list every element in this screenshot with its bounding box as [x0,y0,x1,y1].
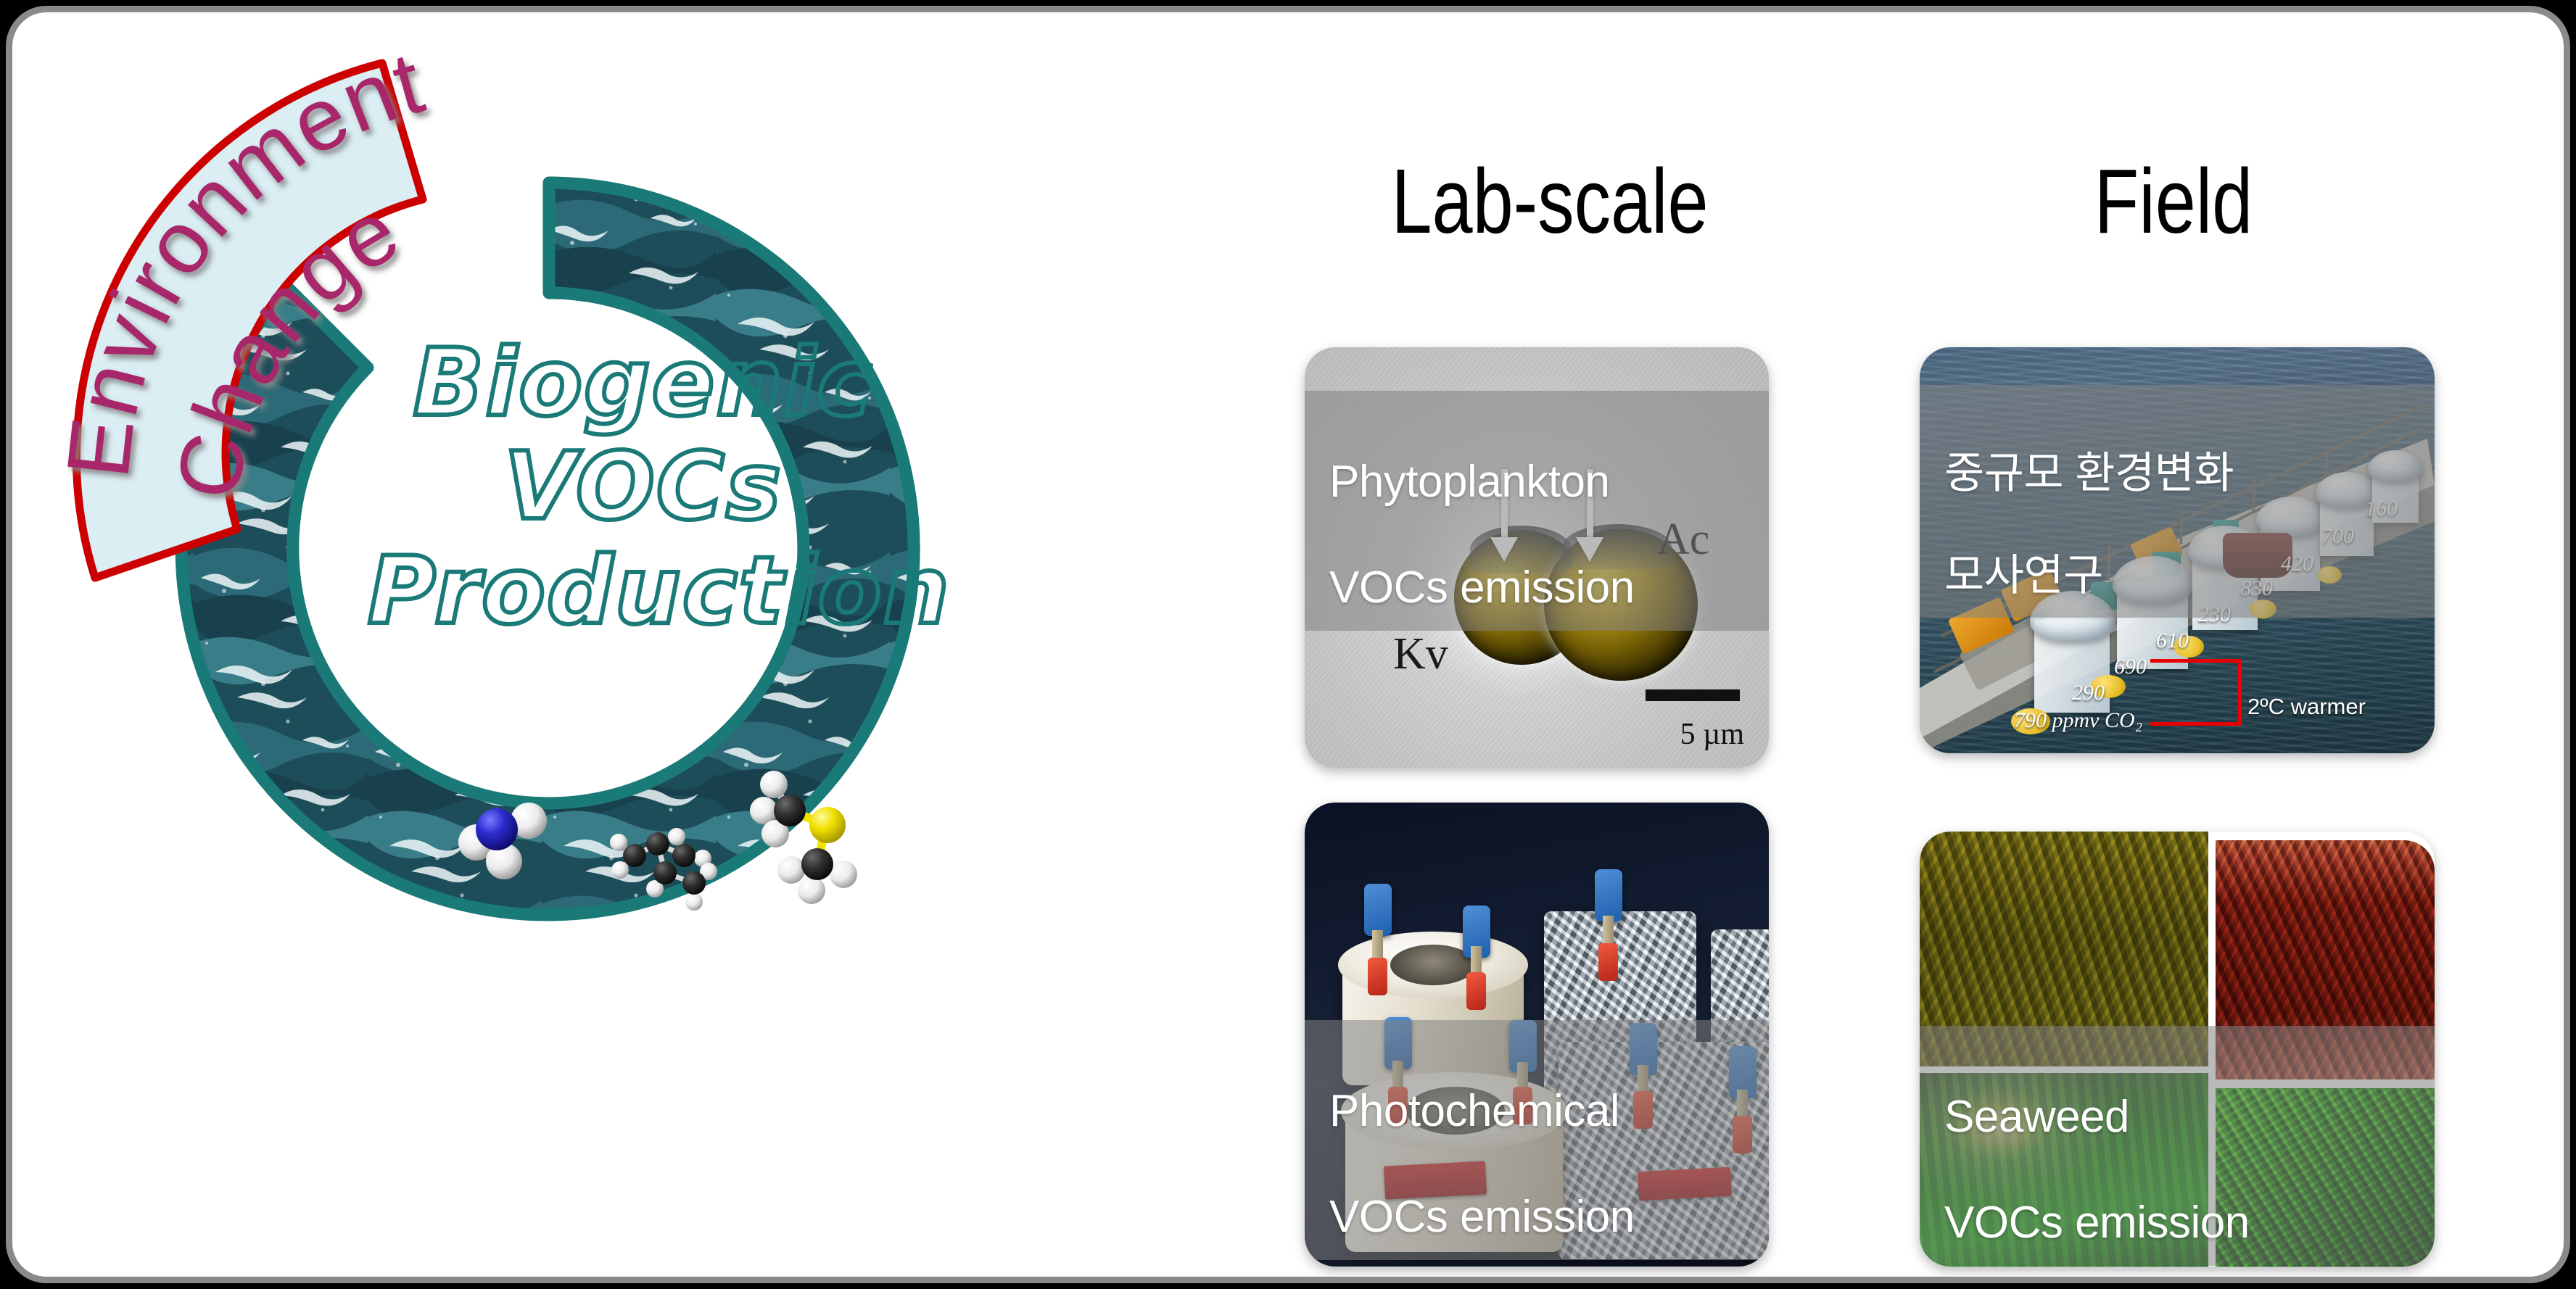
caption-phytoplankton: Phytoplankton VOCs emission [1305,391,1769,631]
warming-bracket [2150,659,2242,726]
molecule-isoprene [610,828,717,911]
label-kv: Kv [1393,629,1448,680]
caption-phytoplankton-line-1: Phytoplankton [1329,457,1609,507]
caption-seaweed-line-2: VOCs emission [1944,1198,2250,1248]
caption-seaweed: Seaweed VOCs emission [1920,1026,2435,1266]
panel-mesocosm: 160 700 420 830 230 610 690 290 790 ppmv… [1920,347,2435,753]
caption-mesocosm: 중규모 환경변화 모사연구 [1920,385,2435,618]
molecule-dimethyl-sulfide [750,771,857,904]
graphical-abstract-figure: Environmental Change Biogenic VOCs Produ… [6,6,2570,1283]
environmental-cycle-diagram: Environmental Change Biogenic VOCs Produ… [20,12,1078,1281]
co2-label-610: 610 [2156,629,2189,653]
co2-label-690: 690 [2114,655,2147,679]
molecule-models [447,763,883,929]
co2-unit-label: 790 ppmv CO₂ [2014,708,2142,733]
valve-tip-3 [1598,943,1618,981]
valve-3 [1595,869,1622,921]
scale-bar-label: 5 µm [1680,717,1744,752]
panel-photochemical: Photochemical VOCs emission [1305,803,1769,1267]
caption-phytoplankton-line-2: VOCs emission [1329,563,1635,613]
caption-photochemical: Photochemical VOCs emission [1305,1020,1769,1260]
caption-mesocosm-line-1: 중규모 환경변화 [1944,449,2234,497]
scale-bar [1646,689,1740,701]
valve-1 [1364,884,1392,936]
caption-photochemical-line-1: Photochemical [1329,1086,1619,1136]
caption-photochemical-line-2: VOCs emission [1329,1192,1635,1242]
heading-field-line-1: Field [1930,153,2417,250]
panel-phytoplankton: Ac Kv 5 µm Phytoplankton VOCs emission [1305,347,1769,768]
molecule-ammonia [458,803,547,879]
valve-tip-2 [1466,972,1486,1010]
caption-mesocosm-line-2: 모사연구 [1944,551,2103,600]
heading-lab-line-1: Lab-scale [1306,153,1793,250]
co2-label-290: 290 [2072,681,2105,705]
valve-tip-1 [1368,958,1387,995]
cycle-svg: Environmental Change [20,12,1078,1281]
warming-label: 2ºC warmer [2247,694,2366,720]
panel-seaweed: Seaweed VOCs emission [1920,832,2435,1267]
caption-seaweed-line-1: Seaweed [1944,1092,2129,1142]
